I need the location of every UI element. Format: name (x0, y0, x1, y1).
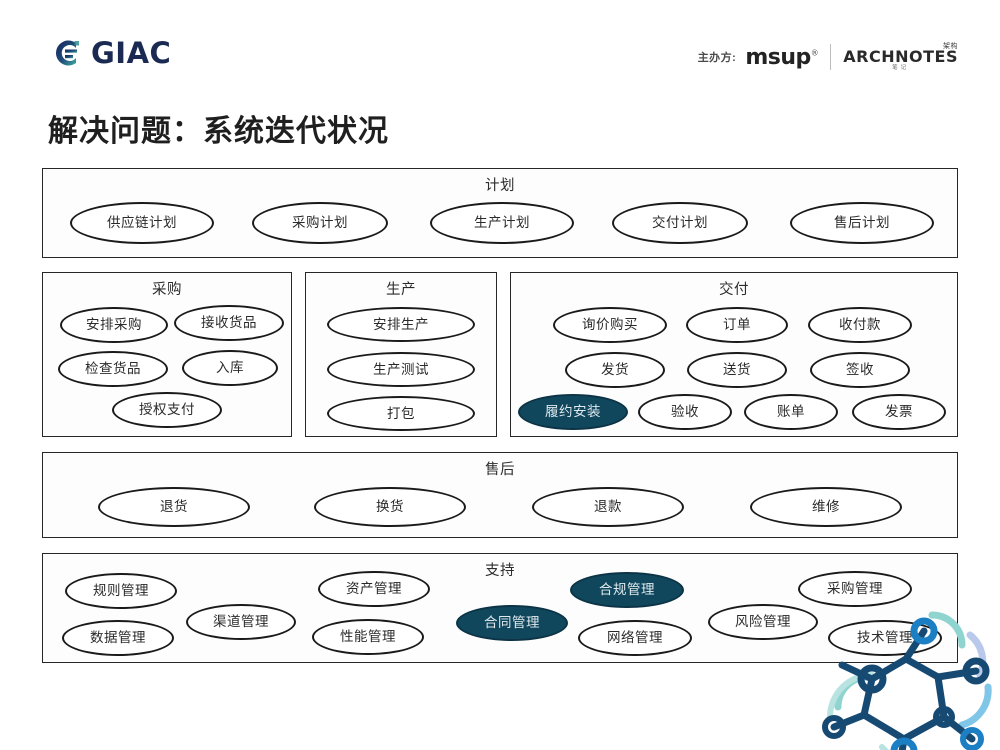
process-node[interactable]: 换货 (314, 487, 466, 527)
group-title: 交付 (511, 278, 957, 299)
process-node[interactable]: 数据管理 (62, 620, 174, 656)
process-node[interactable]: 签收 (810, 352, 910, 388)
process-node-highlighted[interactable]: 履约安装 (518, 394, 628, 430)
process-node-highlighted[interactable]: 合同管理 (456, 605, 568, 641)
process-node[interactable]: 退货 (98, 487, 250, 527)
process-node[interactable]: 打包 (327, 396, 475, 431)
process-node-highlighted[interactable]: 合规管理 (570, 572, 684, 608)
process-node[interactable]: 安排采购 (60, 307, 168, 343)
group-title: 生产 (306, 278, 496, 299)
process-node[interactable]: 安排生产 (327, 307, 475, 342)
process-node[interactable]: 网络管理 (578, 620, 692, 656)
slide-root: GIAC 主办方: msup® 架构 ARCHNOTES 笔记 解决问题：系统迭… (0, 0, 1000, 750)
process-node[interactable]: 采购管理 (798, 571, 912, 607)
process-node[interactable]: 交付计划 (612, 202, 748, 244)
process-node[interactable]: 生产计划 (430, 202, 574, 244)
process-node[interactable]: 接收货品 (174, 305, 284, 341)
process-node[interactable]: 规则管理 (65, 573, 177, 609)
process-node[interactable]: 送货 (687, 352, 787, 388)
process-node[interactable]: 采购计划 (252, 202, 388, 244)
process-node[interactable]: 询价购买 (553, 307, 667, 343)
process-node[interactable]: 售后计划 (790, 202, 934, 244)
process-node[interactable]: 检查货品 (58, 351, 168, 387)
process-node[interactable]: 生产测试 (327, 352, 475, 387)
process-node[interactable]: 资产管理 (318, 571, 430, 607)
group-title: 售后 (43, 458, 957, 479)
process-node[interactable]: 收付款 (808, 307, 912, 343)
process-node[interactable]: 渠道管理 (186, 604, 296, 640)
process-node[interactable]: 验收 (638, 394, 732, 430)
group-title: 计划 (43, 174, 957, 195)
process-node[interactable]: 订单 (686, 307, 788, 343)
process-node[interactable]: 维修 (750, 487, 902, 527)
process-node[interactable]: 技术管理 (828, 620, 942, 656)
process-node[interactable]: 授权支付 (112, 392, 222, 428)
process-node[interactable]: 发票 (852, 394, 946, 430)
process-node[interactable]: 账单 (744, 394, 838, 430)
process-diagram: 计划供应链计划采购计划生产计划交付计划售后计划采购安排采购接收货品检查货品入库授… (0, 0, 1000, 750)
process-node[interactable]: 入库 (182, 350, 278, 386)
process-node[interactable]: 性能管理 (312, 619, 424, 655)
process-node[interactable]: 退款 (532, 487, 684, 527)
process-node[interactable]: 发货 (565, 352, 665, 388)
group-title: 采购 (43, 278, 291, 299)
process-node[interactable]: 供应链计划 (70, 202, 214, 244)
process-node[interactable]: 风险管理 (708, 604, 818, 640)
